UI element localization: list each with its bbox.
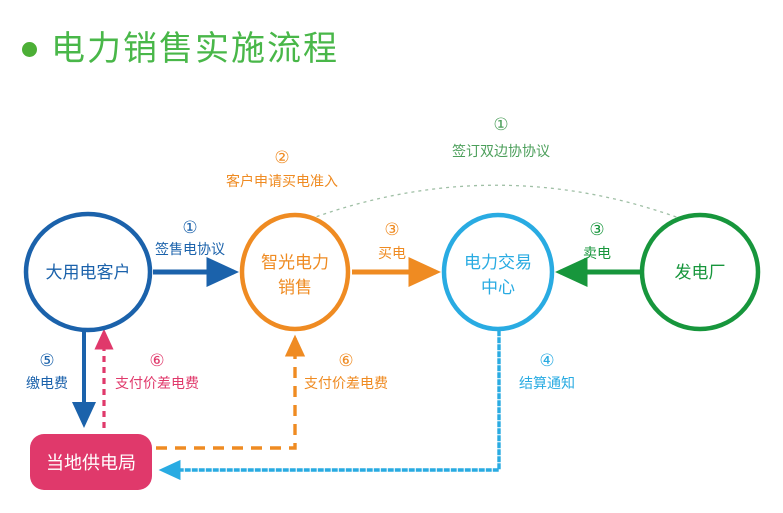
arrow-bureau-to-zhiguang: [156, 338, 295, 448]
edge-number-3-buy: ③: [384, 220, 399, 240]
node-power-bureau[interactable]: 当地供电局: [30, 434, 152, 490]
node-customer[interactable]: 大用电客户: [26, 214, 150, 330]
node-zhiguang-label-line2: 销售: [278, 278, 312, 298]
edge-label-bilateral-agreement: ① 签订双边协协议: [452, 115, 550, 160]
node-exchange-label-line1: 电力交易: [464, 253, 532, 273]
edge-number-6-bureau: ⑥: [149, 351, 164, 371]
edge-caption-pay-electric-fee: 缴电费: [26, 376, 68, 392]
edge-number-4: ④: [539, 351, 554, 371]
edge-number-3-sell: ③: [589, 220, 604, 240]
edge-number-6-seller: ⑥: [338, 351, 353, 371]
node-plant[interactable]: 发电厂: [642, 215, 758, 329]
edge-caption-buy-power: 买电: [378, 246, 406, 262]
edge-caption-sell-power: 卖电: [583, 246, 611, 262]
node-exchange-label-line2: 中心: [481, 278, 515, 298]
slide-canvas: 电力销售实施流程: [0, 0, 783, 513]
edge-label-pay-electric-fee: ⑤ 缴电费: [26, 351, 68, 392]
edge-caption-sign-sales-agreement: 签售电协议: [155, 241, 225, 258]
node-zhiguang-label-line1: 智光电力: [261, 253, 329, 273]
edge-number-2: ②: [274, 148, 289, 168]
node-power-bureau-label: 当地供电局: [46, 453, 136, 474]
node-zhiguang[interactable]: 智光电力 销售: [242, 215, 348, 329]
edge-number-1-bilateral: ①: [493, 115, 508, 135]
edge-label-sign-sales-agreement: ① 签售电协议: [155, 218, 225, 258]
edge-number-5: ⑤: [39, 351, 54, 371]
edge-label-pay-diff-fee-seller: ⑥ 支付价差电费: [304, 351, 388, 392]
edge-label-sell-power: ③ 卖电: [583, 220, 611, 262]
edge-caption-pay-diff-fee-seller: 支付价差电费: [304, 376, 388, 392]
edge-caption-pay-diff-fee-bureau: 支付价差电费: [115, 376, 199, 392]
edge-label-settlement-notice: ④ 结算通知: [519, 351, 575, 392]
edge-label-pay-diff-fee-bureau: ⑥ 支付价差电费: [115, 351, 199, 392]
edge-caption-apply-access: 客户申请买电准入: [226, 173, 338, 190]
node-customer-label: 大用电客户: [46, 263, 131, 283]
edge-label-buy-power: ③ 买电: [378, 220, 406, 262]
edge-caption-bilateral-agreement: 签订双边协协议: [452, 143, 550, 160]
edge-number-1-customer: ①: [182, 218, 197, 238]
edge-label-apply-access: ② 客户申请买电准入: [226, 148, 338, 190]
arrow-exchange-to-bureau: [162, 332, 499, 470]
edge-caption-settlement-notice: 结算通知: [519, 375, 575, 392]
node-plant-label: 发电厂: [675, 263, 726, 283]
node-exchange[interactable]: 电力交易 中心: [444, 215, 552, 329]
flow-diagram: 大用电客户 智光电力 销售 电力交易 中心 发电厂 当地供电局 ① 签售电协议 …: [0, 0, 783, 513]
